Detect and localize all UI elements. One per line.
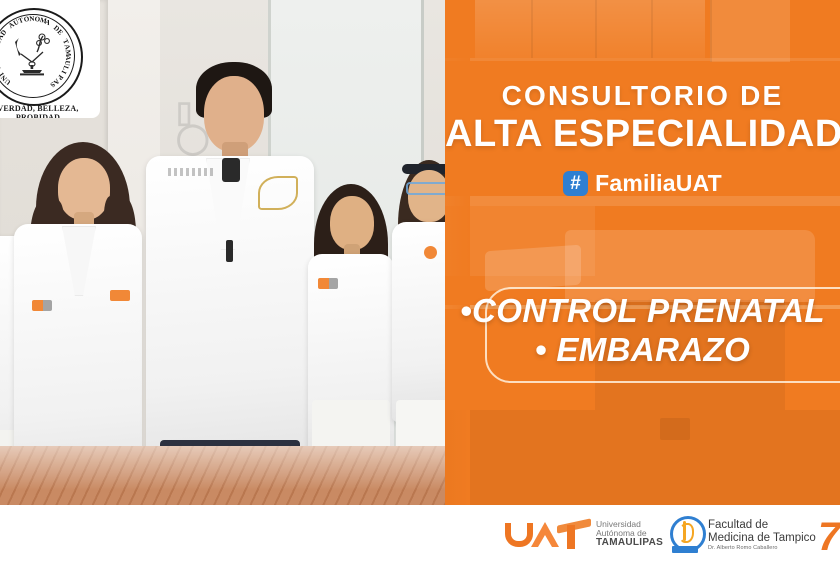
facultad-line-3: Dr. Alberto Romo Caballero bbox=[708, 545, 816, 551]
facultad-line-1: Facultad de bbox=[708, 519, 816, 532]
ghost-cabinet-divider bbox=[531, 0, 533, 58]
uat-logo-text: Universidad Autónoma de TAMAULIPAS bbox=[596, 520, 663, 548]
ghost-floor bbox=[445, 410, 840, 512]
torch-seal-icon bbox=[9, 32, 55, 76]
headline-main-line: ALTA ESPECIALIDAD bbox=[445, 114, 840, 155]
seal-motto: VERDAD, BELLEZA, PROBIDAD bbox=[0, 104, 97, 118]
uat-logo: Universidad Autónoma de TAMAULIPAS bbox=[505, 519, 663, 549]
ghost-exam-bed-headrest bbox=[485, 245, 581, 292]
panel-headline: CONSULTORIO DE ALTA ESPECIALIDAD bbox=[445, 82, 840, 155]
facultad-line-2: Medicina de Tampico bbox=[708, 532, 816, 545]
ghost-wall-line bbox=[445, 58, 840, 61]
orange-left-fade bbox=[445, 0, 470, 512]
ghost-cabinet-divider bbox=[595, 0, 597, 58]
ghost-cabinet-divider bbox=[651, 0, 653, 58]
hashtag-label: FamiliaUAT bbox=[595, 170, 722, 197]
anniversary-logo: 7 bbox=[818, 520, 840, 556]
ghost-cabinets bbox=[475, 0, 705, 58]
asclepius-rod-icon bbox=[668, 516, 702, 554]
hashtag-badge: # FamiliaUAT bbox=[445, 170, 840, 197]
anniversary-number: 7 bbox=[818, 520, 840, 554]
uat-wordmark-icon bbox=[505, 519, 591, 549]
video-frame: ▯◯ bbox=[0, 0, 840, 576]
facultad-logo-text: Facultad de Medicina de Tampico Dr. Albe… bbox=[708, 519, 816, 551]
services-list: •CONTROL PRENATAL • EMBARAZO bbox=[445, 292, 840, 370]
headline-top-line: CONSULTORIO DE bbox=[445, 82, 840, 110]
service-item-1: •CONTROL PRENATAL bbox=[445, 292, 840, 331]
ghost-floor-box bbox=[660, 418, 690, 440]
ghost-clinic-photo bbox=[445, 0, 840, 512]
ghost-counter bbox=[445, 196, 840, 206]
hash-symbol-icon: # bbox=[563, 171, 588, 196]
university-seal-card: UNIVERSIDAD AUTONOMA DE TAMAULIPAS VERDA… bbox=[0, 0, 100, 118]
facultad-medicina-logo: Facultad de Medicina de Tampico Dr. Albe… bbox=[668, 516, 816, 554]
orange-info-panel: CONSULTORIO DE ALTA ESPECIALIDAD # Famil… bbox=[445, 0, 840, 512]
ghost-door bbox=[710, 0, 790, 62]
service-item-2: • EMBARAZO bbox=[445, 331, 840, 370]
uat-line-3: TAMAULIPAS bbox=[596, 538, 663, 549]
